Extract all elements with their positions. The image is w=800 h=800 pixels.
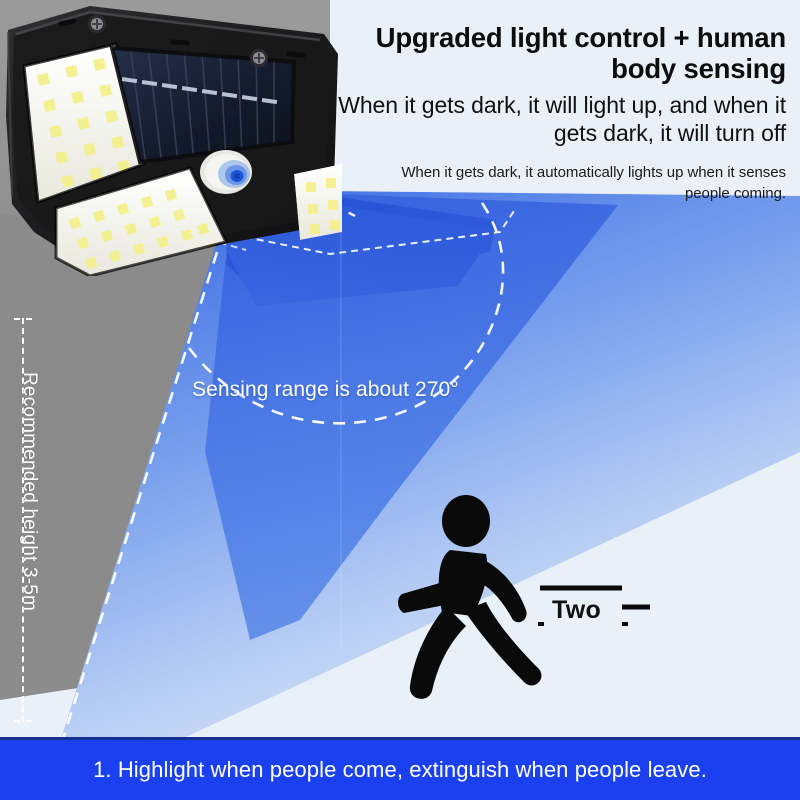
pir-sensor-icon bbox=[200, 150, 252, 194]
header-block: Upgraded light control + human body sens… bbox=[334, 22, 786, 204]
motion-label: Two bbox=[552, 596, 601, 625]
page-title: Upgraded light control + human body sens… bbox=[334, 22, 786, 84]
height-label: Recommended height 3-5m bbox=[18, 372, 40, 702]
height-dimension-cap-top bbox=[14, 318, 32, 320]
screw-icon-left bbox=[88, 15, 106, 33]
caption-text: 1. Highlight when people come, extinguis… bbox=[93, 757, 707, 783]
page-subtitle: When it gets dark, it will light up, and… bbox=[334, 91, 786, 147]
caption-bar: 1. Highlight when people come, extinguis… bbox=[0, 737, 800, 800]
height-dimension-cap-bottom bbox=[14, 720, 32, 722]
solar-wall-light-product bbox=[0, 0, 342, 276]
sensing-range-label: Sensing range is about 270° bbox=[192, 378, 459, 402]
screw-icon-right bbox=[250, 49, 268, 67]
page-note: When it gets dark, it automatically ligh… bbox=[334, 162, 786, 204]
infographic-page: Recommended height 3-5m Sensing range is… bbox=[0, 0, 800, 800]
